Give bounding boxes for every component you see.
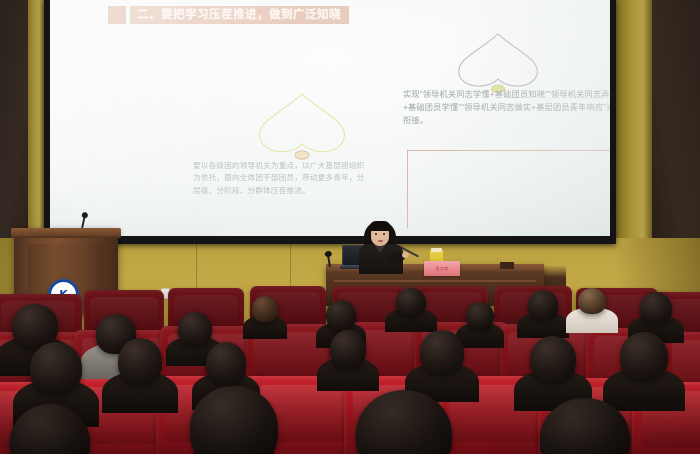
name-placard: 发言席 xyxy=(424,261,460,276)
audience-member-head xyxy=(420,330,464,374)
slide-title: 二、要把学习压茬推进，做到广泛知晓 xyxy=(137,10,341,21)
audience-member-head xyxy=(206,342,246,384)
balloon-outline-icon xyxy=(450,32,546,94)
slide-title-bar: 二、要把学习压茬推进，做到广泛知晓 xyxy=(130,6,349,24)
podium-top xyxy=(11,228,121,238)
presenter-eye-left xyxy=(375,233,378,235)
left-pillar xyxy=(28,0,44,248)
audience-member-head xyxy=(178,312,212,346)
audience-member-head xyxy=(118,338,162,384)
presenter-hand xyxy=(402,252,409,258)
presenter xyxy=(355,219,407,271)
right-side-wall xyxy=(650,0,700,250)
slide-text-right: 实现“领导机关同志学懂+基础团员知晓”“领导机关同志弄通+基础团员学懂”“领导机… xyxy=(403,88,610,128)
audience-area xyxy=(0,286,700,454)
presenter-eye-right xyxy=(383,233,386,235)
balloon-outline-icon xyxy=(250,92,354,160)
audience-member-head xyxy=(578,288,606,314)
audience-member-head xyxy=(396,288,426,316)
projection-screen: 二、要把学习压茬推进，做到广泛知晓 要以各级团的领导机关为重点，以广大基层团组织… xyxy=(50,0,610,236)
name-placard-text: 发言席 xyxy=(436,266,449,272)
left-side-wall xyxy=(0,0,30,246)
audience-member-head xyxy=(620,332,668,380)
title-accent-chip xyxy=(108,6,126,24)
lecture-hall-photo: 二、要把学习压茬推进，做到广泛知晓 要以各级团的领导机关为重点，以广大基层团组织… xyxy=(0,0,700,454)
audience-member-head xyxy=(466,302,494,330)
right-pillar xyxy=(616,0,652,250)
projection-screen-frame: 二、要把学习压茬推进，做到广泛知晓 要以各级团的领导机关为重点，以广大基层团组织… xyxy=(44,0,616,244)
audience-member-head xyxy=(530,336,576,382)
slide-title-row: 二、要把学习压茬推进，做到广泛知晓 xyxy=(108,6,349,24)
presenter-hair-front xyxy=(369,221,391,231)
presenter-mouth xyxy=(378,240,383,242)
audience-member-head xyxy=(326,300,356,330)
audience-member-head xyxy=(252,296,278,322)
audience-member-head xyxy=(30,342,82,394)
table-groove xyxy=(334,280,536,282)
slide-callout-frame xyxy=(407,150,610,228)
audience-member-head xyxy=(528,290,558,320)
audience-member-head xyxy=(330,330,366,368)
desk-box xyxy=(500,262,514,269)
audience-member-head xyxy=(640,292,672,324)
slide-text-left: 要以各级团的领导机关为重点，以广大基层团组织为依托，面向全体团干部团员，带动更多… xyxy=(193,160,369,197)
